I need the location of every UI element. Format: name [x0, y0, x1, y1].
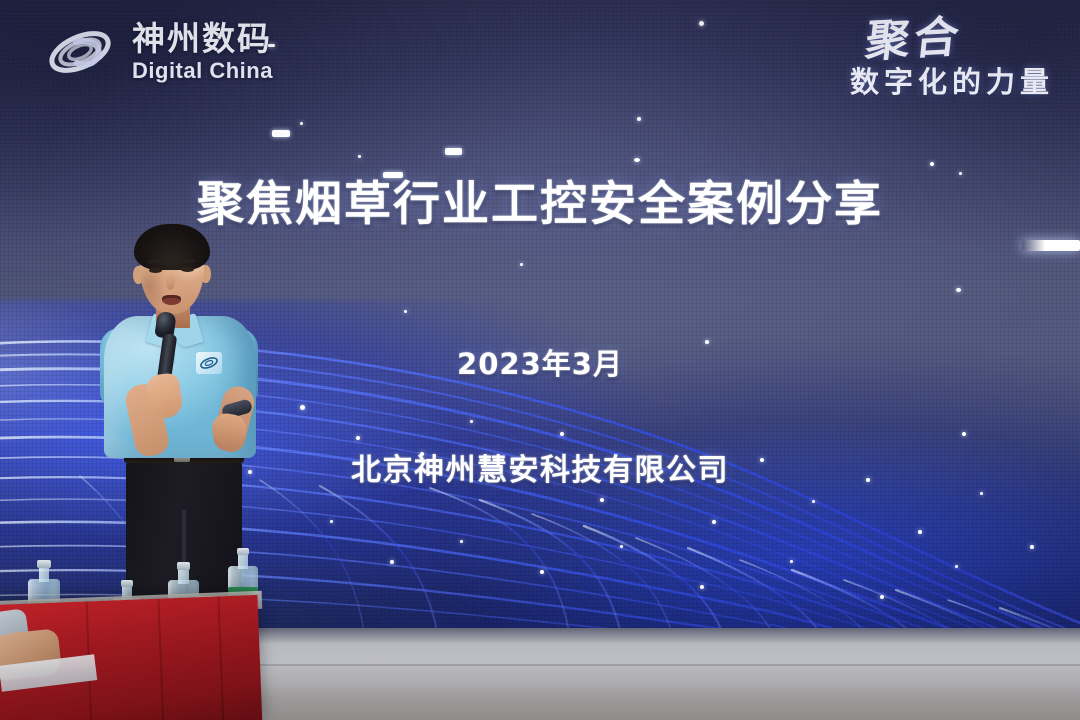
conference-stage-photo: 神州数码 Digital China 聚合 数字化的力量 聚焦烟草行业工控安全案…: [0, 0, 1080, 720]
